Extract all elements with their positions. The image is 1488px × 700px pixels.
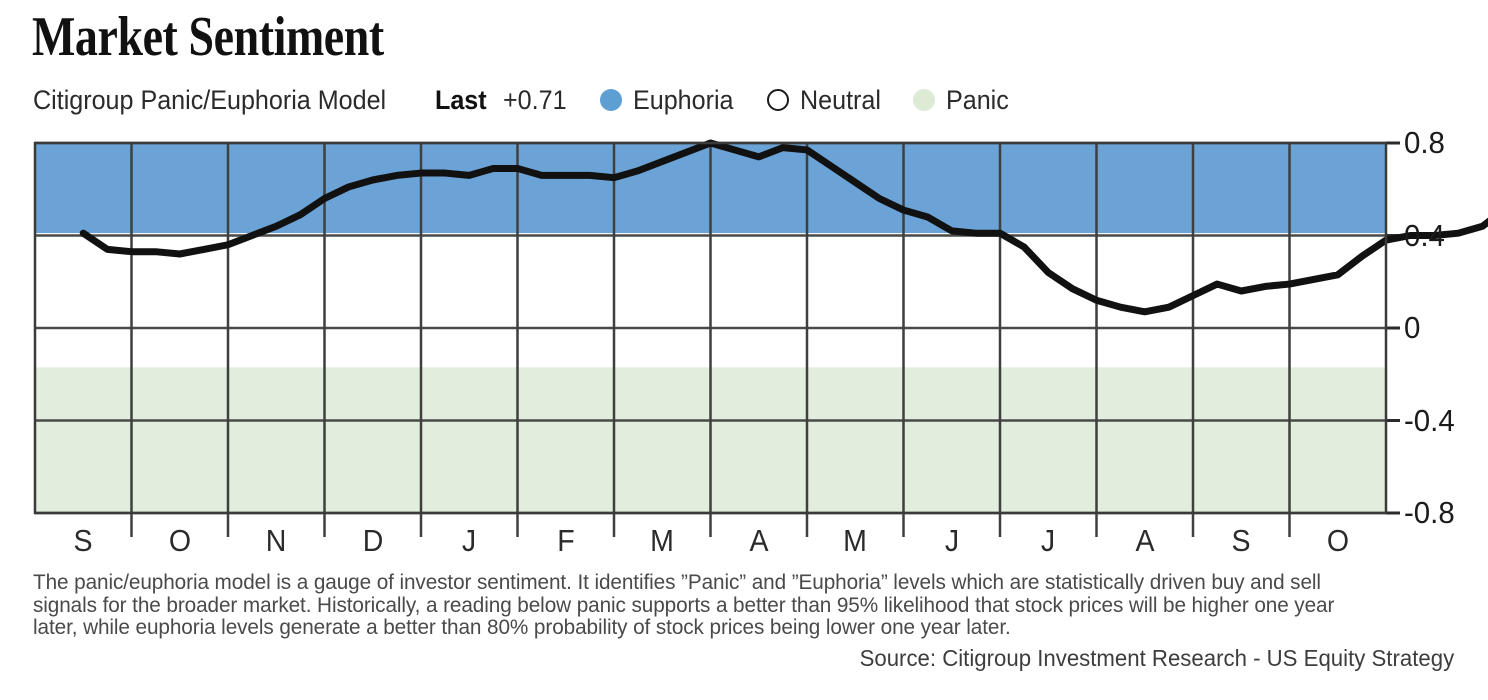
- x-axis-label-2: N: [266, 523, 287, 559]
- x-axis-label-6: M: [650, 523, 674, 559]
- x-axis-label-11: A: [1135, 523, 1154, 559]
- x-axis-label-12: S: [1232, 523, 1251, 559]
- x-axis-label-9: J: [945, 523, 959, 559]
- x-axis-label-7: A: [749, 523, 768, 559]
- footnote-line-1: The panic/euphoria model is a gauge of i…: [33, 571, 1407, 594]
- footnote: The panic/euphoria model is a gauge of i…: [33, 571, 1407, 639]
- x-axis-label-5: F: [557, 523, 574, 559]
- x-axis-label-13: O: [1327, 523, 1349, 559]
- y-axis-label-0: 0.8: [1404, 125, 1445, 161]
- y-axis-label-4: -0.8: [1404, 495, 1455, 531]
- footnote-line-3: later, while euphoria levels generate a …: [33, 616, 1407, 639]
- y-axis-label-3: -0.4: [1404, 403, 1455, 439]
- y-axis-label-2: 0: [1404, 310, 1420, 346]
- x-axis-label-4: J: [462, 523, 476, 559]
- chart-page: Market Sentiment Citigroup Panic/Euphori…: [0, 0, 1488, 700]
- x-axis-label-0: S: [74, 523, 93, 559]
- x-axis-label-3: D: [362, 523, 383, 559]
- y-axis-label-1: 0.4: [1404, 218, 1445, 254]
- source-line: Source: Citigroup Investment Research - …: [859, 645, 1454, 672]
- x-axis-label-8: M: [843, 523, 867, 559]
- x-axis-label-10: J: [1041, 523, 1055, 559]
- x-axis-label-1: O: [169, 523, 191, 559]
- footnote-line-2: signals for the broader market. Historic…: [33, 594, 1407, 617]
